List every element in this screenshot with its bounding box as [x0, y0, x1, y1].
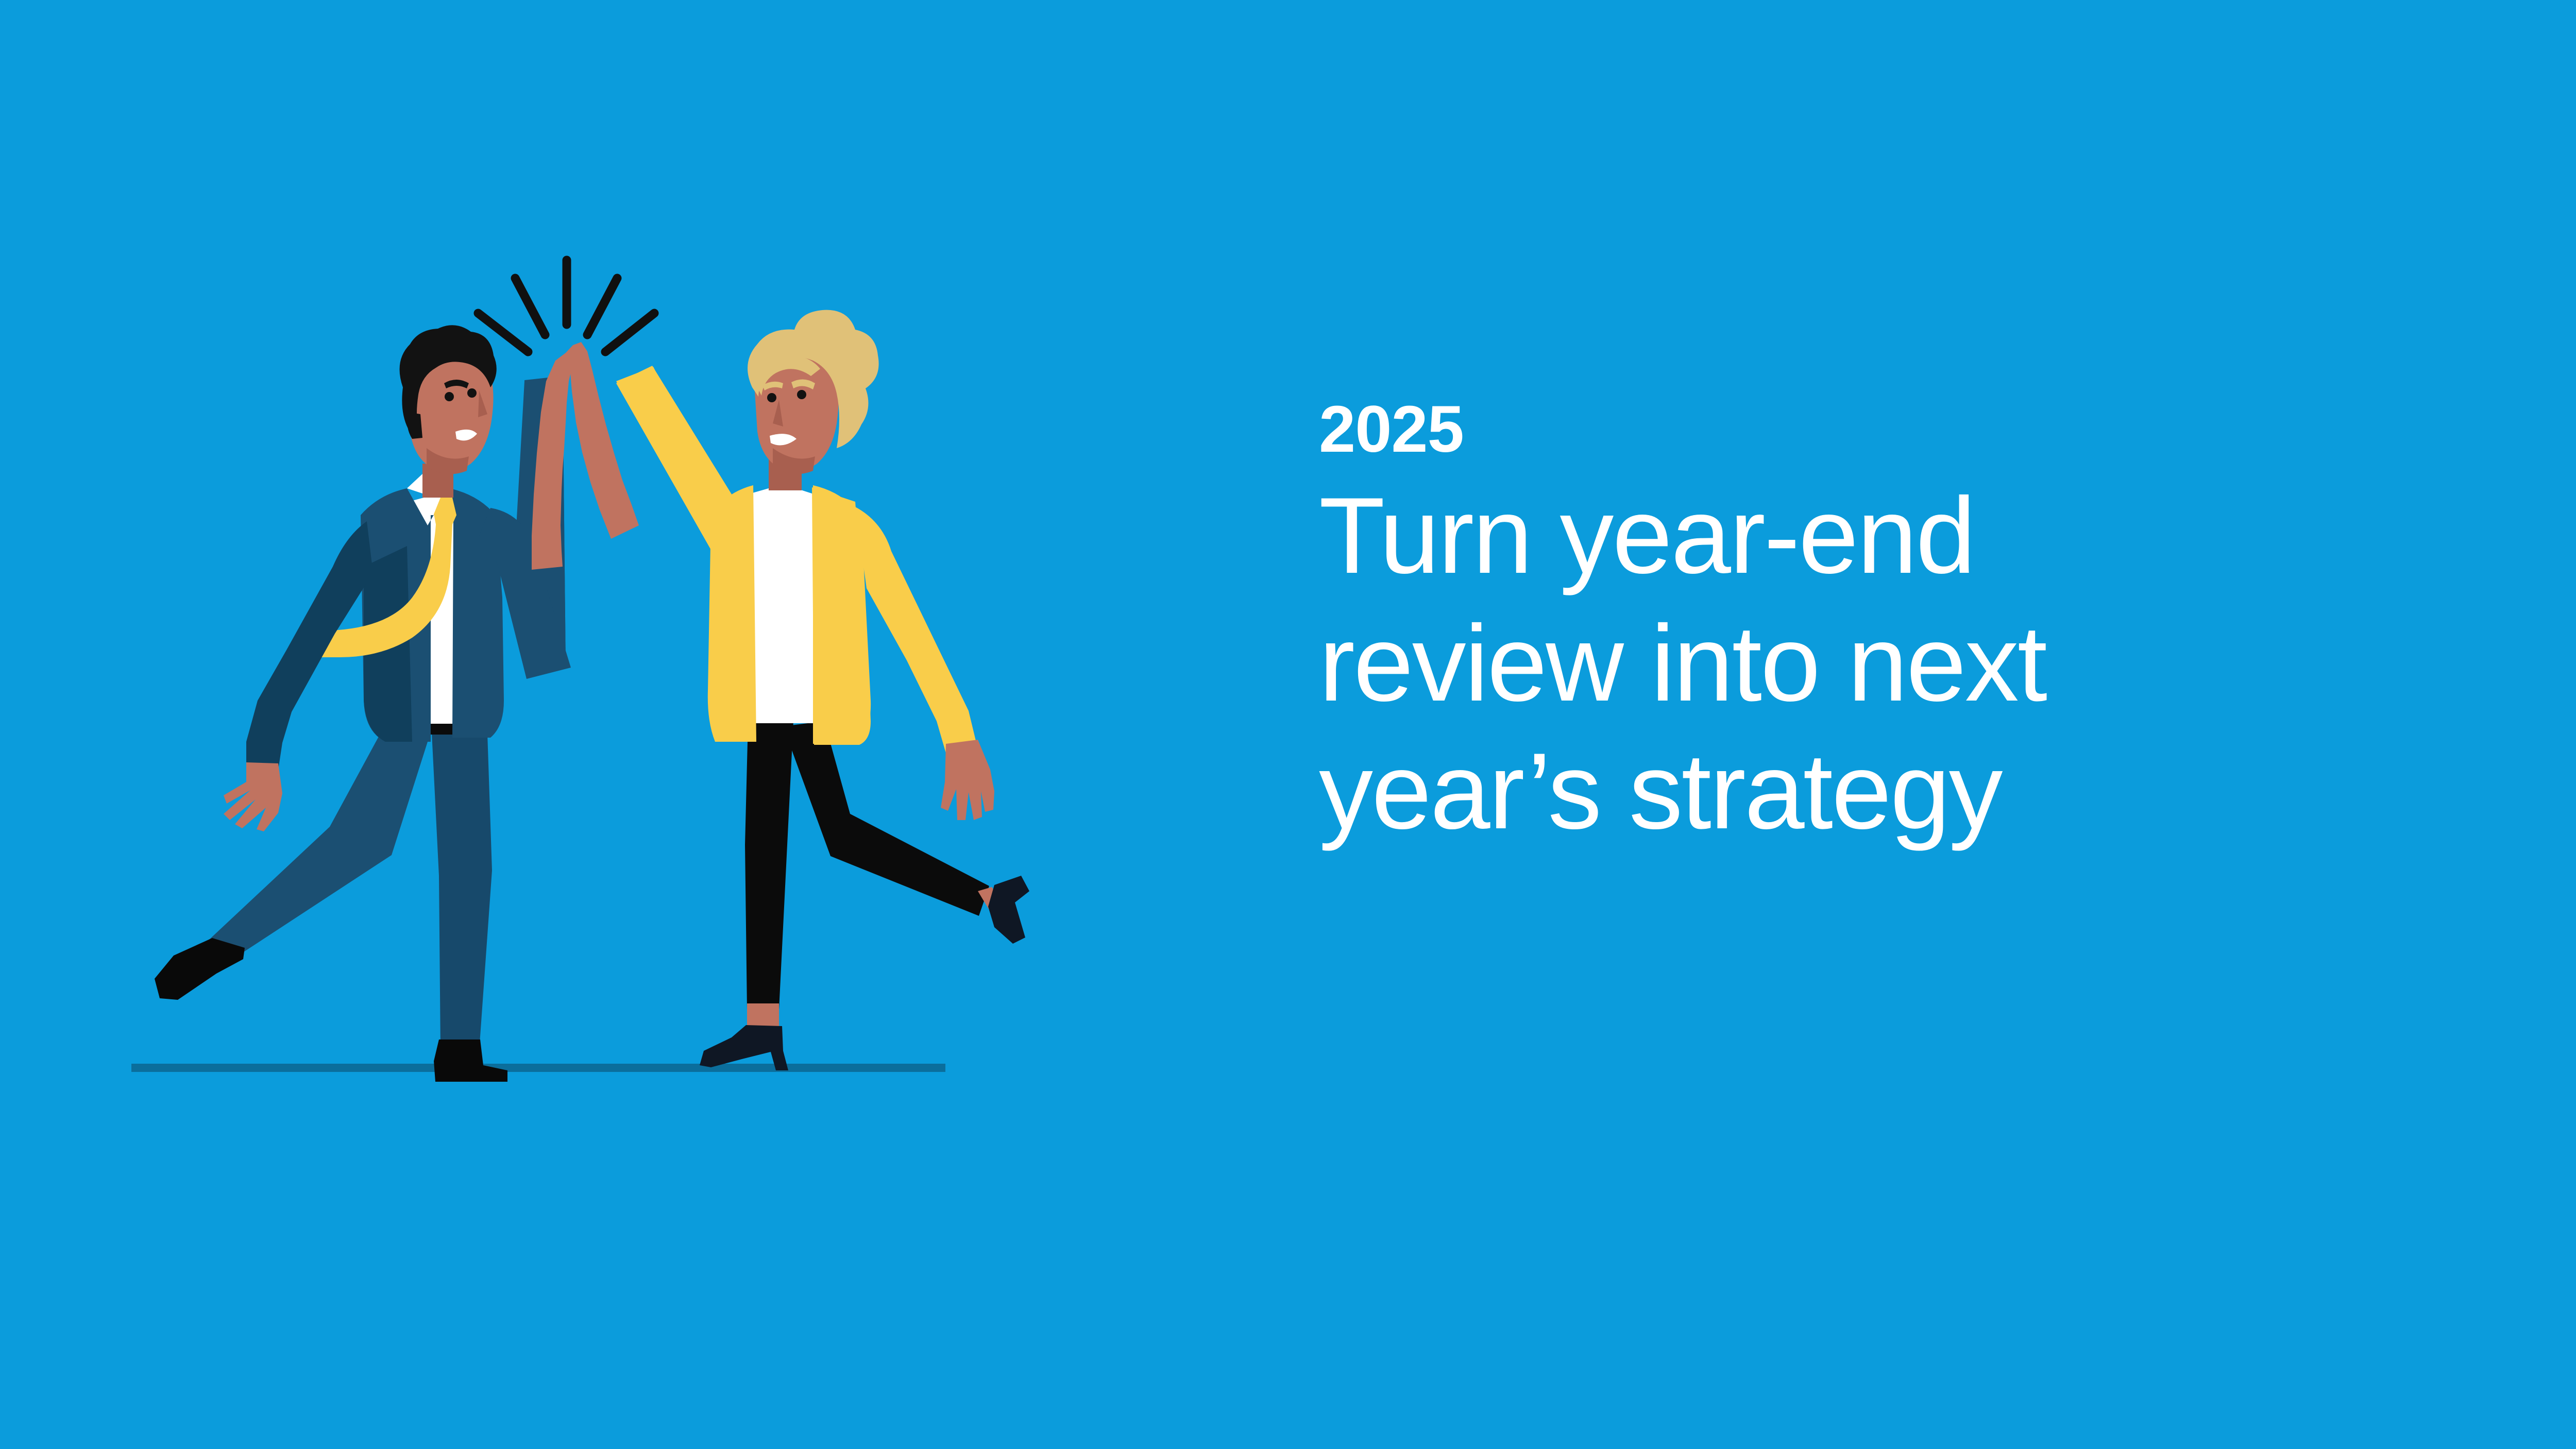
man-sideburn: [407, 412, 422, 439]
year-eyebrow: 2025: [1319, 397, 2483, 463]
figure-man: [155, 325, 576, 1082]
man-back-shoe: [155, 938, 245, 1000]
woman-eye-right: [797, 390, 806, 399]
headline-line-3: year’s strategy: [1319, 727, 2483, 855]
man-back-hand: [224, 762, 282, 831]
woman-eye-left: [767, 393, 776, 402]
figure-woman: [570, 310, 1029, 1070]
woman-back-arm: [855, 507, 977, 753]
ground-line: [131, 1064, 945, 1072]
woman-back-shoe: [988, 876, 1029, 944]
headline-line-2: review into next: [1319, 600, 2483, 727]
man-eye: [445, 392, 454, 401]
banner-canvas: 2025 Turn year-end review into next year…: [0, 0, 2576, 1449]
impact-line-upper-left: [515, 278, 545, 335]
page-title: Turn year-end review into next year’s st…: [1319, 472, 2483, 855]
man-front-shoe: [434, 1039, 507, 1082]
headline-line-1: Turn year-end: [1319, 472, 2483, 600]
high-five-illustration: [0, 206, 1185, 1185]
impact-line-lower-right: [605, 313, 654, 352]
woman-front-shoe: [700, 1025, 788, 1070]
impact-lines: [478, 260, 654, 352]
man-front-leg: [432, 732, 492, 1051]
headline-block: 2025 Turn year-end review into next year…: [1319, 397, 2483, 855]
man-back-leg: [209, 737, 428, 953]
woman-back-hand: [941, 740, 994, 820]
woman-high-five-hand: [570, 342, 639, 539]
impact-line-upper-right: [587, 278, 617, 335]
woman-front-leg: [745, 721, 793, 1010]
man-eye-right: [467, 388, 477, 398]
